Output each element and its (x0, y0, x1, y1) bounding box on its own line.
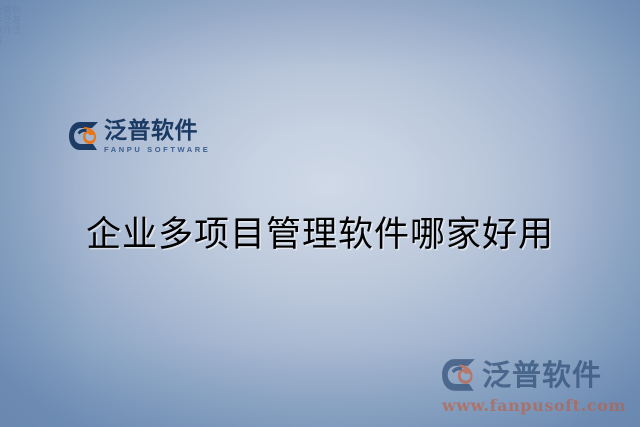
footer-brand-name-cn: 泛普软件 (482, 361, 602, 390)
fanpu-logo-mark-icon (69, 121, 99, 152)
brand-name-en: FANPU SOFTWARE (104, 146, 210, 154)
footer-watermark: 泛普软件 www.fanpusoft.com (442, 358, 626, 415)
fanpu-logo-mark-icon (442, 358, 476, 393)
footer-watermark-row: 泛普软件 (442, 358, 626, 393)
brand-logo: 泛普软件 FANPU SOFTWARE (69, 120, 210, 154)
banner-canvas: 泛普软件泛普软件泛普 泛普软件 FANPU SOFTWARE 企业多项目管理软件… (0, 0, 640, 427)
corner-watermark: 泛普软件泛普软件泛普 (0, 6, 28, 48)
footer-website-url: www.fanpusoft.com (442, 396, 626, 415)
brand-logo-wordmark: 泛普软件 FANPU SOFTWARE (104, 120, 210, 154)
brand-name-cn: 泛普软件 (104, 120, 198, 143)
page-title: 企业多项目管理软件哪家好用 (0, 206, 640, 257)
